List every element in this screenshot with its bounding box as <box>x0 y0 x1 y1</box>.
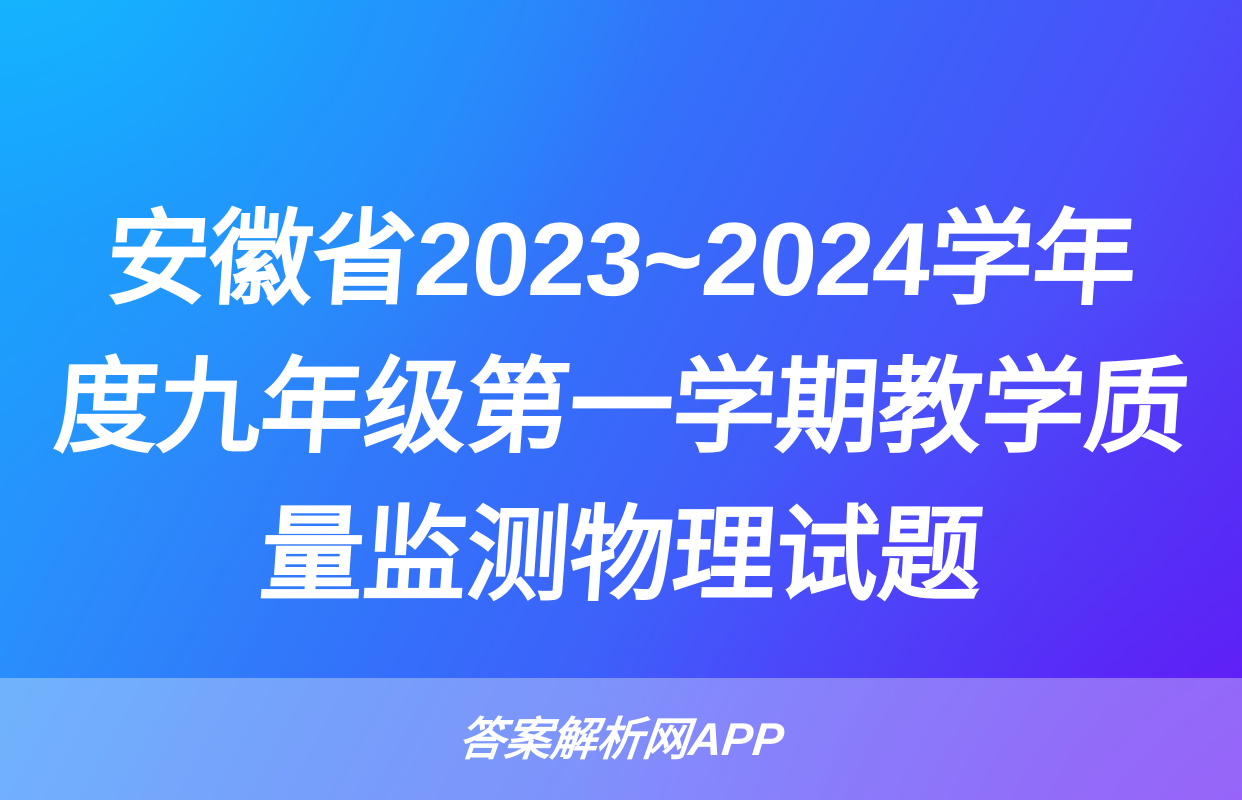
watermark-label: 答案解析网APP <box>456 716 785 762</box>
title-line-3: 量监测物理试题 <box>0 482 1242 630</box>
title-line-1: 安徽省2023~2024学年 <box>0 186 1242 334</box>
page-title: 安徽省2023~2024学年 度九年级第一学期教学质 量监测物理试题 <box>0 186 1242 630</box>
watermark-band: 答案解析网APP <box>0 678 1242 800</box>
exam-cover-banner: 安徽省2023~2024学年 度九年级第一学期教学质 量监测物理试题 答案解析网… <box>0 0 1242 800</box>
title-line-2: 度九年级第一学期教学质 <box>0 334 1242 482</box>
